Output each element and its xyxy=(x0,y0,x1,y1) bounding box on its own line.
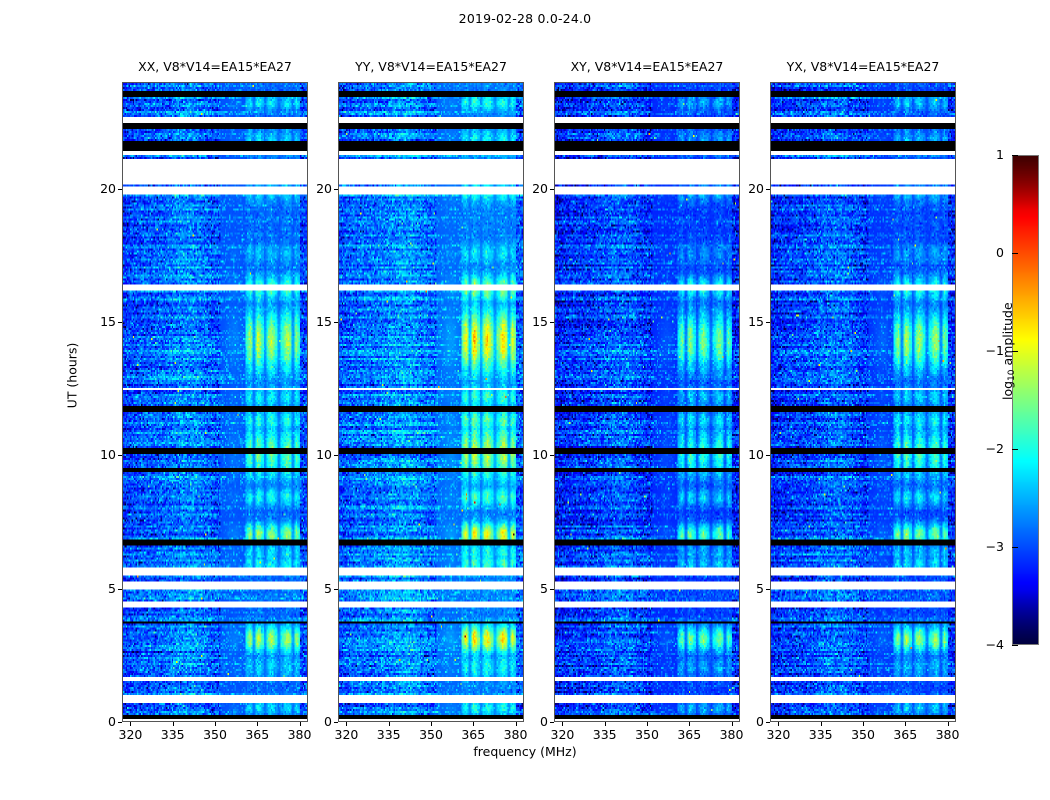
y-tick-mark xyxy=(118,322,122,323)
y-tick-mark xyxy=(118,589,122,590)
x-tick-label-380-panel0: 380 xyxy=(280,727,320,742)
figure-canvas: 2019-02-28 0.0-24.0 XX, V8*V14=EA15*EA27… xyxy=(0,0,1050,800)
y-tick-mark xyxy=(334,322,338,323)
y-tick-mark xyxy=(550,722,554,723)
y-tick-mark xyxy=(334,455,338,456)
x-tick-label-365-panel3: 365 xyxy=(885,727,925,742)
y-tick-label-5-panel0: 5 xyxy=(82,581,116,596)
x-tick-mark xyxy=(431,722,432,726)
y-tick-label-5-panel3: 5 xyxy=(730,581,764,596)
x-tick-label-380-panel2: 380 xyxy=(712,727,752,742)
x-tick-label-380-panel3: 380 xyxy=(928,727,968,742)
y-tick-label-0-panel2: 0 xyxy=(514,714,548,729)
x-axis-label: frequency (MHz) xyxy=(0,744,1050,759)
y-tick-mark xyxy=(766,189,770,190)
y-tick-mark xyxy=(118,189,122,190)
y-tick-mark xyxy=(550,189,554,190)
x-tick-label-320-panel3: 320 xyxy=(758,727,798,742)
y-tick-label-10-panel3: 10 xyxy=(730,447,764,462)
y-tick-label-5-panel2: 5 xyxy=(514,581,548,596)
x-tick-label-320-panel2: 320 xyxy=(542,727,582,742)
waterfall-panel-xx[interactable] xyxy=(122,82,308,722)
x-tick-label-365-panel1: 365 xyxy=(453,727,493,742)
x-tick-mark xyxy=(605,722,606,726)
colorbar-tick-mark xyxy=(1012,155,1018,156)
colorbar-tick-mark xyxy=(1012,253,1018,254)
colorbar-tick-mark xyxy=(1012,645,1018,646)
y-tick-mark xyxy=(334,722,338,723)
y-tick-label-10-panel1: 10 xyxy=(298,447,332,462)
x-tick-mark xyxy=(948,722,949,726)
panel-title-xx: XX, V8*V14=EA15*EA27 xyxy=(122,59,308,77)
y-tick-label-5-panel1: 5 xyxy=(298,581,332,596)
y-tick-mark xyxy=(118,722,122,723)
x-tick-label-320-panel0: 320 xyxy=(110,727,150,742)
y-tick-label-20-panel0: 20 xyxy=(82,181,116,196)
x-tick-mark xyxy=(473,722,474,726)
y-tick-mark xyxy=(766,722,770,723)
y-tick-label-20-panel3: 20 xyxy=(730,181,764,196)
x-tick-mark xyxy=(130,722,131,726)
panel-title-yx: YX, V8*V14=EA15*EA27 xyxy=(770,59,956,77)
y-tick-label-15-panel2: 15 xyxy=(514,314,548,329)
y-tick-label-15-panel1: 15 xyxy=(298,314,332,329)
colorbar[interactable] xyxy=(1012,155,1039,645)
x-tick-label-335-panel2: 335 xyxy=(585,727,625,742)
y-tick-mark xyxy=(118,455,122,456)
colorbar-tick-label--2: −2 xyxy=(978,441,1004,456)
colorbar-tick-label--4: −4 xyxy=(978,637,1004,652)
x-tick-mark xyxy=(689,722,690,726)
y-axis-label: UT (hours) xyxy=(65,296,80,456)
panel-title-yy: YY, V8*V14=EA15*EA27 xyxy=(338,59,524,77)
y-tick-label-10-panel2: 10 xyxy=(514,447,548,462)
colorbar-label-prefix: log xyxy=(1000,381,1015,400)
x-tick-mark xyxy=(346,722,347,726)
waterfall-panel-yx[interactable] xyxy=(770,82,956,722)
colorbar-tick-label-0: 0 xyxy=(978,245,1004,260)
x-tick-mark xyxy=(389,722,390,726)
x-tick-label-335-panel0: 335 xyxy=(153,727,193,742)
figure-suptitle: 2019-02-28 0.0-24.0 xyxy=(0,11,1050,26)
y-tick-mark xyxy=(334,589,338,590)
x-tick-mark xyxy=(215,722,216,726)
y-tick-label-20-panel2: 20 xyxy=(514,181,548,196)
x-tick-mark xyxy=(863,722,864,726)
x-tick-mark xyxy=(778,722,779,726)
x-tick-label-365-panel2: 365 xyxy=(669,727,709,742)
y-tick-mark xyxy=(334,189,338,190)
x-tick-label-335-panel3: 335 xyxy=(801,727,841,742)
colorbar-tick-mark xyxy=(1012,449,1018,450)
colorbar-label-sub: 10 xyxy=(1007,369,1017,380)
x-tick-label-350-panel3: 350 xyxy=(843,727,883,742)
y-tick-mark xyxy=(766,589,770,590)
y-tick-mark xyxy=(550,455,554,456)
x-tick-mark xyxy=(647,722,648,726)
x-tick-mark xyxy=(562,722,563,726)
waterfall-panel-yy[interactable] xyxy=(338,82,524,722)
x-tick-mark xyxy=(905,722,906,726)
x-tick-label-335-panel1: 335 xyxy=(369,727,409,742)
x-tick-label-365-panel0: 365 xyxy=(237,727,277,742)
y-tick-label-0-panel3: 0 xyxy=(730,714,764,729)
x-tick-label-320-panel1: 320 xyxy=(326,727,366,742)
waterfall-image-xy xyxy=(555,83,739,721)
x-tick-mark xyxy=(821,722,822,726)
x-tick-label-350-panel0: 350 xyxy=(195,727,235,742)
waterfall-image-yx xyxy=(771,83,955,721)
y-tick-label-15-panel3: 15 xyxy=(730,314,764,329)
waterfall-panel-xy[interactable] xyxy=(554,82,740,722)
y-tick-mark xyxy=(550,322,554,323)
x-tick-label-350-panel1: 350 xyxy=(411,727,451,742)
waterfall-image-yy xyxy=(339,83,523,721)
x-tick-mark xyxy=(173,722,174,726)
y-tick-mark xyxy=(550,589,554,590)
y-tick-label-20-panel1: 20 xyxy=(298,181,332,196)
y-tick-label-0-panel0: 0 xyxy=(82,714,116,729)
colorbar-tick-mark xyxy=(1012,547,1018,548)
y-tick-label-0-panel1: 0 xyxy=(298,714,332,729)
y-tick-label-10-panel0: 10 xyxy=(82,447,116,462)
colorbar-gradient xyxy=(1013,156,1038,644)
x-tick-mark xyxy=(257,722,258,726)
colorbar-tick-label-1: 1 xyxy=(978,147,1004,162)
panel-title-xy: XY, V8*V14=EA15*EA27 xyxy=(554,59,740,77)
y-tick-mark xyxy=(766,322,770,323)
colorbar-label-suffix: amplitude xyxy=(1000,302,1015,369)
y-tick-mark xyxy=(766,455,770,456)
y-tick-label-15-panel0: 15 xyxy=(82,314,116,329)
colorbar-label: log10 amplitude xyxy=(1000,302,1015,400)
x-tick-label-350-panel2: 350 xyxy=(627,727,667,742)
colorbar-tick-label--3: −3 xyxy=(978,539,1004,554)
x-tick-label-380-panel1: 380 xyxy=(496,727,536,742)
waterfall-image-xx xyxy=(123,83,307,721)
